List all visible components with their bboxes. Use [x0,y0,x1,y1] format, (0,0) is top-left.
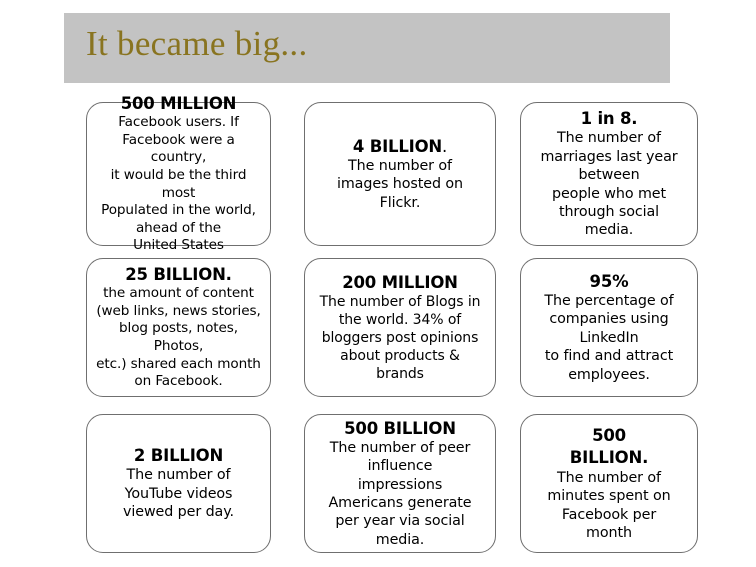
stat-body: The percentage of companies using Linked… [544,292,673,384]
stat-body: The number of YouTube videos viewed per … [123,466,234,521]
slide-root: { "banner": { "title": "It became big...… [0,0,756,567]
stat-headline: 200 MILLION [342,272,458,293]
stat-card-facebook-minutes[interactable]: 500 BILLION. The number of minutes spent… [520,414,698,553]
stat-card-flickr-images[interactable]: 4 BILLION. The number of images hosted o… [304,102,496,246]
stat-headline: 4 BILLION. [353,136,447,157]
stat-headline: 2 BILLION [134,445,223,466]
headline-trailing-dot: . [442,137,447,156]
page-title: It became big... [86,21,308,67]
stat-card-peer-influence-impressions[interactable]: 500 BILLION The number of peer influence… [304,414,496,553]
stat-card-youtube-videos[interactable]: 2 BILLION The number of YouTube videos v… [86,414,271,553]
stat-body: The number of Blogs in the world. 34% of… [320,293,481,383]
stat-headline: 500 BILLION [344,418,456,439]
stat-body: The number of images hosted on Flickr. [337,157,463,212]
stat-body: Facebook users. If Facebook were a count… [93,114,264,255]
stat-body: The number of marriages last year betwee… [540,129,677,239]
stat-card-grid: 500 MILLION Facebook users. If Facebook … [86,102,698,553]
stat-body: The number of peer influence impressions… [329,439,472,549]
stat-body: the amount of content (web links, news s… [93,285,264,391]
stat-card-marriages-social-media[interactable]: 1 in 8. The number of marriages last yea… [520,102,698,246]
stat-headline: 500 BILLION. [570,425,648,469]
stat-card-linkedin-companies[interactable]: 95% The percentage of companies using Li… [520,258,698,397]
stat-card-blogs-world[interactable]: 200 MILLION The number of Blogs in the w… [304,258,496,397]
stat-card-facebook-users[interactable]: 500 MILLION Facebook users. If Facebook … [86,102,271,246]
stat-headline: 1 in 8. [581,108,638,129]
stat-headline: 95% [590,271,629,292]
stat-card-facebook-content[interactable]: 25 BILLION. the amount of content (web l… [86,258,271,397]
stat-body: The number of minutes spent on Facebook … [547,469,670,543]
stat-headline: 25 BILLION. [125,264,232,285]
stat-headline: 500 MILLION [121,93,237,114]
title-banner: It became big... [64,13,670,83]
